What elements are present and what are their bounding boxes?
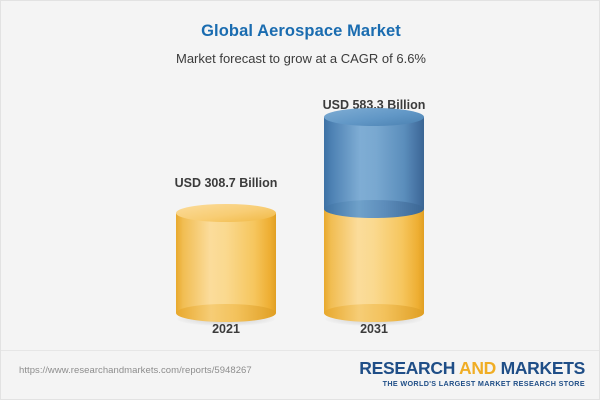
segment-top-ellipse (324, 108, 424, 126)
segment-bottom-ellipse (176, 304, 276, 322)
segment-body (176, 213, 276, 313)
category-label-2021: 2021 (151, 321, 301, 337)
bar-group-2021: USD 308.7 Billion 2021 (151, 89, 301, 337)
source-url[interactable]: https://www.researchandmarkets.com/repor… (19, 365, 252, 376)
logo-tagline: THE WORLD'S LARGEST MARKET RESEARCH STOR… (359, 379, 585, 389)
bar-group-2031: USD 583.3 Billion 2031 (299, 89, 449, 337)
logo-word-and: AND (459, 358, 501, 378)
bar-cylinder-2021[interactable] (176, 213, 276, 313)
segment-top-ellipse (176, 204, 276, 222)
infographic-container: Global Aerospace Market Market forecast … (0, 0, 600, 400)
chart-plot-area: USD 308.7 Billion 2021 USD 583.3 Billion (1, 89, 600, 337)
segment-bottom-ellipse (324, 304, 424, 322)
chart-title: Global Aerospace Market (1, 21, 600, 41)
bar-segment-base-2021 (176, 213, 276, 313)
bar-segment-growth-2031 (324, 117, 424, 209)
logo-word-research: RESEARCH (359, 358, 459, 378)
chart-subtitle: Market forecast to grow at a CAGR of 6.6… (1, 50, 600, 68)
brand-logo[interactable]: RESEARCH AND MARKETS THE WORLD'S LARGEST… (359, 358, 585, 389)
bar-segment-base-2031 (324, 209, 424, 313)
category-label-2031: 2031 (299, 321, 449, 337)
logo-wordmark: RESEARCH AND MARKETS (359, 358, 585, 378)
logo-word-markets: MARKETS (501, 358, 585, 378)
bar-cylinder-2031[interactable] (324, 117, 424, 313)
segment-body (324, 209, 424, 313)
segment-body (324, 117, 424, 209)
segment-bottom-ellipse (324, 200, 424, 218)
chart-header: Global Aerospace Market Market forecast … (1, 1, 600, 68)
bar-value-label-2021: USD 308.7 Billion (151, 175, 301, 191)
chart-footer: https://www.researchandmarkets.com/repor… (1, 350, 600, 399)
